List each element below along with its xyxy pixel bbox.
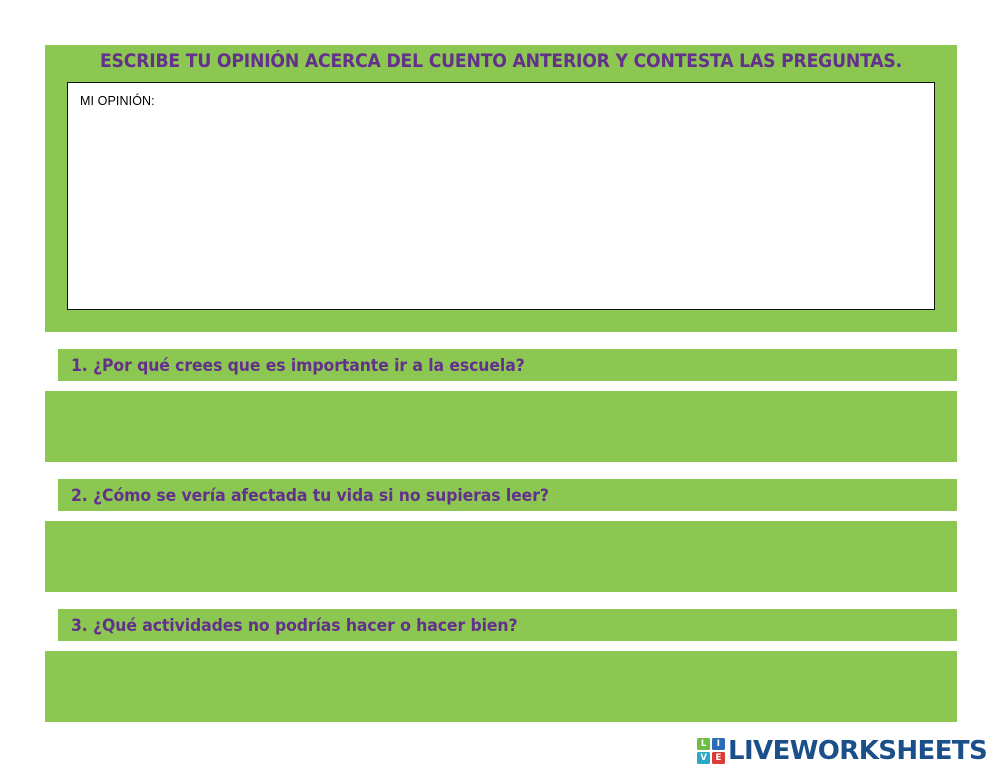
page-title: ESCRIBE TU OPINIÓN ACERCA DEL CUENTO ANT… xyxy=(77,51,925,72)
answer-input-2[interactable] xyxy=(45,521,957,592)
logo-tile-e: E xyxy=(712,752,725,764)
opinion-input-label: MI OPINIÓN: xyxy=(80,94,155,108)
worksheet-page: ESCRIBE TU OPINIÓN ACERCA DEL CUENTO ANT… xyxy=(0,0,1000,772)
liveworksheets-wordmark: LIVEWORKSHEETS xyxy=(728,738,987,764)
question-text-3: 3. ¿Qué actividades no podrías hacer o h… xyxy=(71,616,517,635)
logo-tile-v: V xyxy=(697,752,710,764)
question-text-2: 2. ¿Cómo se vería afectada tu vida si no… xyxy=(71,486,549,505)
logo-tile-i: I xyxy=(712,738,725,750)
opinion-input[interactable]: MI OPINIÓN: xyxy=(67,82,935,310)
liveworksheets-logo[interactable]: L I V E LIVEWORKSHEETS xyxy=(697,735,987,767)
answer-input-3[interactable] xyxy=(45,651,957,722)
logo-tile-l: L xyxy=(697,738,710,750)
opinion-section: ESCRIBE TU OPINIÓN ACERCA DEL CUENTO ANT… xyxy=(45,45,957,332)
liveworksheets-logo-icon: L I V E xyxy=(697,738,725,764)
question-bar-2: 2. ¿Cómo se vería afectada tu vida si no… xyxy=(58,479,957,511)
answer-input-1[interactable] xyxy=(45,391,957,462)
question-bar-1: 1. ¿Por qué crees que es importante ir a… xyxy=(58,349,957,381)
question-bar-3: 3. ¿Qué actividades no podrías hacer o h… xyxy=(58,609,957,641)
question-text-1: 1. ¿Por qué crees que es importante ir a… xyxy=(71,356,525,375)
